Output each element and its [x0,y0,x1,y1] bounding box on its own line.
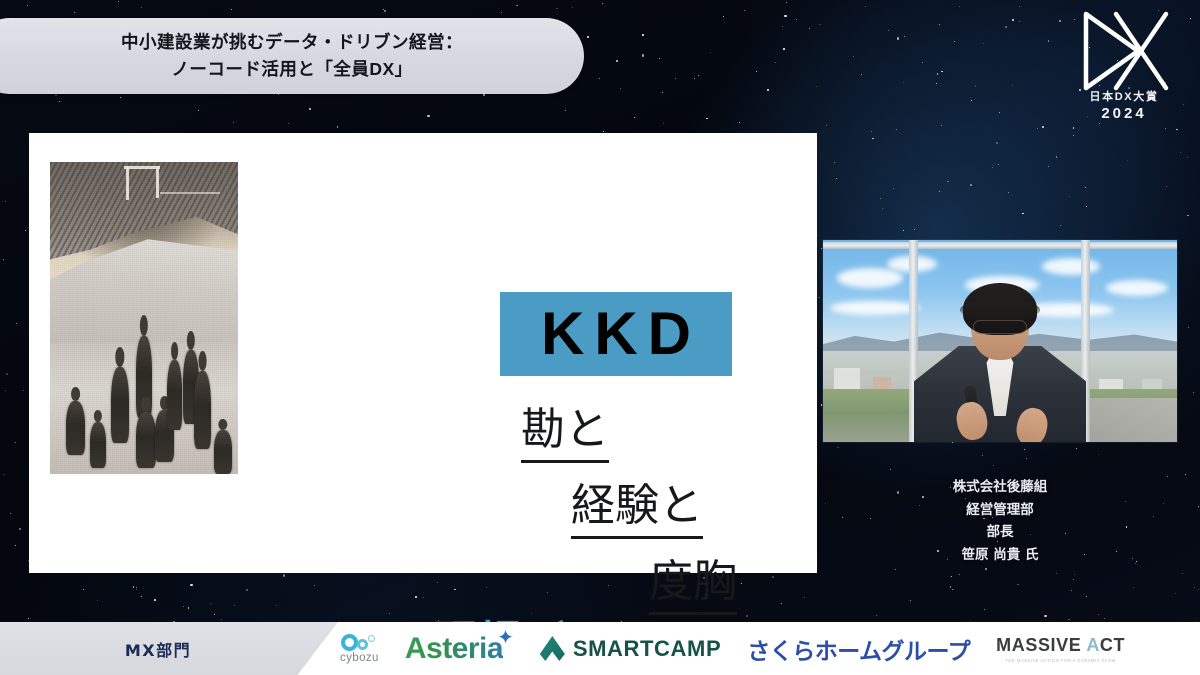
kkd-meaning-line-2: 経験と [571,484,703,528]
speaker-company: 株式会社後藤組 [823,476,1177,499]
sponsor-logo-sakura-home-group[interactable]: さくらホームグループ [747,632,970,666]
session-title-banner: 中小建設業が挑むデータ・ドリブン経営： ノーコード活用と「全員DX」 [0,18,584,94]
dx-monogram-icon [1066,8,1182,94]
session-title-line-1: 中小建設業が挑むデータ・ドリブン経営： [121,32,463,52]
sponsor-logo-strip: cybozu Asteria ✦ SMARTCAMP さくらホームグループ MA… [316,632,1125,666]
presentation-slide: KKD 勘と 経験と 度胸 若手の成長は現場ガチャ [29,133,817,573]
massive-act-wordmark: MASSIVE ACT [996,635,1125,656]
kkd-meaning-line-3: 度胸 [649,560,737,604]
session-title-line-2: ノーコード活用と「全員DX」 [121,56,463,83]
award-logo-year: 2024 [1066,105,1182,122]
asteria-wordmark: Asteria [405,632,503,666]
speaker-info: 株式会社後藤組 経営管理部 部長 笹原 尚貴 氏 [823,476,1177,567]
sponsor-logo-smartcamp[interactable]: SMARTCAMP [540,636,721,662]
massive-act-tagline: THE MASSIVE ACTION FOR A DYNAMIC FLOW [1005,658,1116,663]
cybozu-circles-icon [341,634,377,651]
historical-construction-photo [50,162,238,474]
smartcamp-wordmark: SMARTCAMP [573,636,721,662]
sponsor-logo-asteria[interactable]: Asteria ✦ [405,632,514,666]
award-logo-name: 日本DX大賞 [1066,88,1182,104]
smartcamp-diamond-icon [540,636,565,661]
sponsor-logo-cybozu[interactable]: cybozu [340,634,379,664]
kkd-label: KKD [531,304,701,364]
japan-dx-award-logo: 日本DX大賞 2024 [1066,8,1182,132]
kkd-highlight-box: KKD [500,292,732,376]
speaker-department: 経営管理部 [823,499,1177,522]
sakura-wordmark: さくらホームグループ [747,632,970,666]
sponsor-footer: MX部門 cybozu Asteria ✦ SMARTCAMP さくらホームグル… [0,622,1200,675]
award-category-label: MX部門 [0,637,316,661]
sponsor-logo-massive-act[interactable]: MASSIVE ACT THE MASSIVE ACTION FOR A DYN… [996,635,1125,663]
cybozu-wordmark: cybozu [340,652,379,664]
speaker-figure [905,290,1095,442]
speaker-name: 笹原 尚貴 氏 [823,544,1177,567]
kkd-meaning-line-1: 勘と [521,408,609,452]
sparkle-icon: ✦ [497,628,514,648]
presentation-stage: 中小建設業が挑むデータ・ドリブン経営： ノーコード活用と「全員DX」 日本DX大… [0,0,1200,675]
speaker-title: 部長 [823,521,1177,544]
speaker-video-feed[interactable] [823,240,1177,442]
